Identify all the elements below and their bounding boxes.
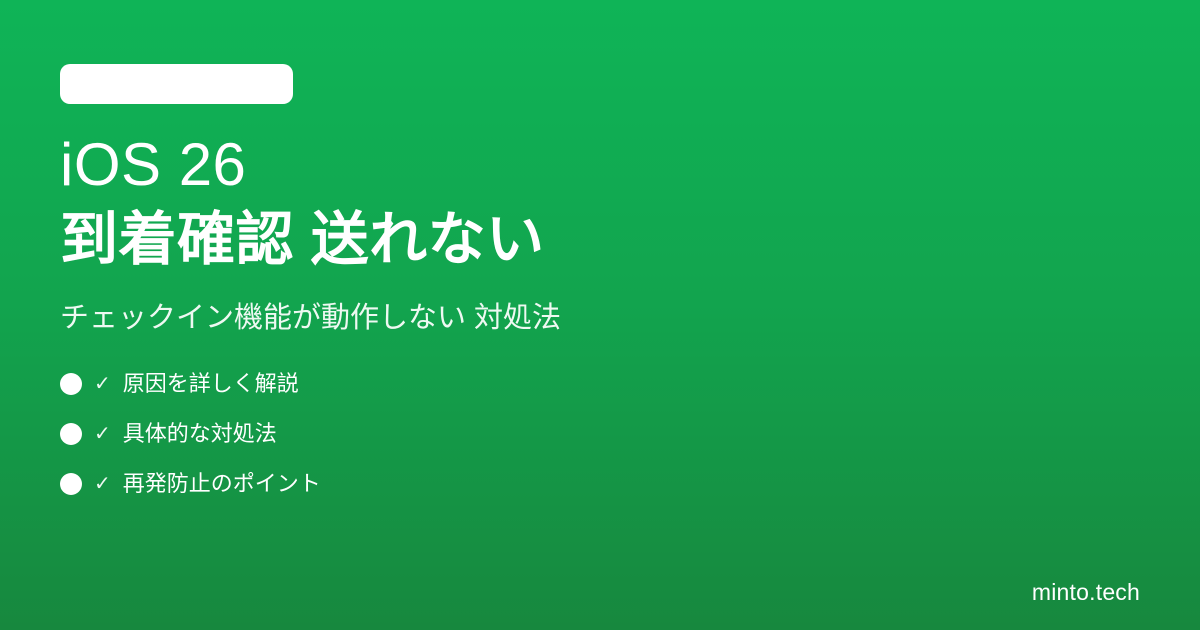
site-brand: minto.tech [1032, 579, 1140, 606]
card-content: iOS 26 到着確認 送れない チェックイン機能が動作しない 対処法 ✓ 原因… [60, 64, 1140, 519]
category-badge [60, 64, 293, 104]
list-item: ✓ 原因を詳しく解説 [60, 369, 1140, 399]
bullet-dot-icon [60, 423, 82, 445]
list-item: ✓ 具体的な対処法 [60, 419, 1140, 449]
feature-list: ✓ 原因を詳しく解説 ✓ 具体的な対処法 ✓ 再発防止のポイント [60, 369, 1140, 499]
list-item: ✓ 再発防止のポイント [60, 469, 1140, 499]
list-item-label: 具体的な対処法 [123, 423, 277, 445]
bullet-dot-icon [60, 373, 82, 395]
bullet-dot-icon [60, 473, 82, 495]
check-icon: ✓ [94, 374, 111, 394]
page-subtitle: チェックイン機能が動作しない 対処法 [60, 301, 1140, 336]
page-title-line-1: iOS 26 [60, 135, 1140, 195]
list-item-label: 再発防止のポイント [123, 473, 321, 495]
page-title-line-2: 到着確認 送れない [60, 211, 1140, 269]
check-icon: ✓ [94, 474, 111, 494]
og-card: iOS 26 到着確認 送れない チェックイン機能が動作しない 対処法 ✓ 原因… [0, 0, 1200, 630]
title-block: iOS 26 到着確認 送れない [60, 135, 1140, 269]
check-icon: ✓ [94, 424, 111, 444]
list-item-label: 原因を詳しく解説 [123, 373, 299, 395]
